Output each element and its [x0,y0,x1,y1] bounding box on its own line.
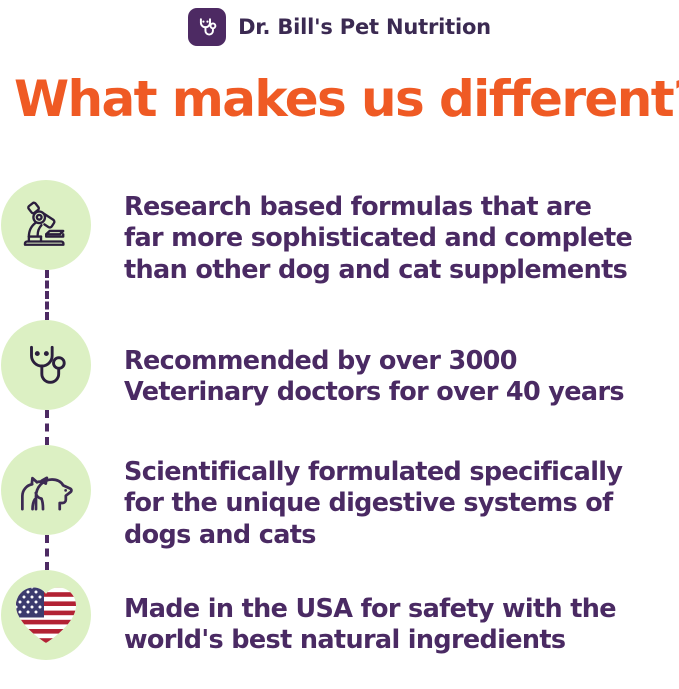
feature-text-line: far more sophisticated and complete [124,223,632,254]
feature-text: Made in the USA for safety with the worl… [124,570,622,657]
list-item: Made in the USA for safety with the worl… [0,570,679,674]
feature-text-line: world's best natural ingredients [124,625,616,656]
feature-text-line: than other dog and cat supplements [124,255,632,286]
feature-text: Scientifically formulated specifically f… [124,445,628,551]
stethoscope-icon [17,336,75,394]
stethoscope-logo-icon [194,14,220,40]
brand-header: Dr. Bill's Pet Nutrition [0,0,679,46]
feature-text: Recommended by over 3000 Veterinary doct… [124,320,630,409]
icon-column [0,445,124,535]
dashed-connector [45,270,53,320]
brand-title: Dr. Bill's Pet Nutrition [238,15,491,39]
feature-icon-badge [1,320,91,410]
list-item: Recommended by over 3000 Veterinary doct… [0,320,679,445]
feature-text-line: Scientifically formulated specifically [124,457,622,488]
feature-text-line: Research based formulas that are [124,192,632,223]
page-title: What makes us different? [14,74,674,124]
dashed-connector [45,410,53,445]
feature-text-line: Veterinary doctors for over 40 years [124,377,624,408]
dashed-connector [45,535,53,570]
dog-and-cat-icon [16,461,76,519]
feature-text: Research based formulas that are far mor… [124,180,638,286]
brand-logo [188,8,226,46]
list-item: Scientifically formulated specifically f… [0,445,679,570]
feature-list: Research based formulas that are far mor… [0,180,679,674]
icon-column [0,320,124,410]
feature-text-line: for the unique digestive systems of [124,488,622,519]
icon-column [0,180,124,270]
icon-column [0,570,124,660]
usa-flag-heart-icon [12,583,80,647]
feature-icon-badge [1,570,91,660]
feature-text-line: dogs and cats [124,520,622,551]
microscope-icon [17,196,75,254]
feature-text-line: Recommended by over 3000 [124,346,624,377]
list-item: Research based formulas that are far mor… [0,180,679,320]
feature-icon-badge [1,180,91,270]
feature-text-line: Made in the USA for safety with the [124,594,616,625]
feature-icon-badge [1,445,91,535]
